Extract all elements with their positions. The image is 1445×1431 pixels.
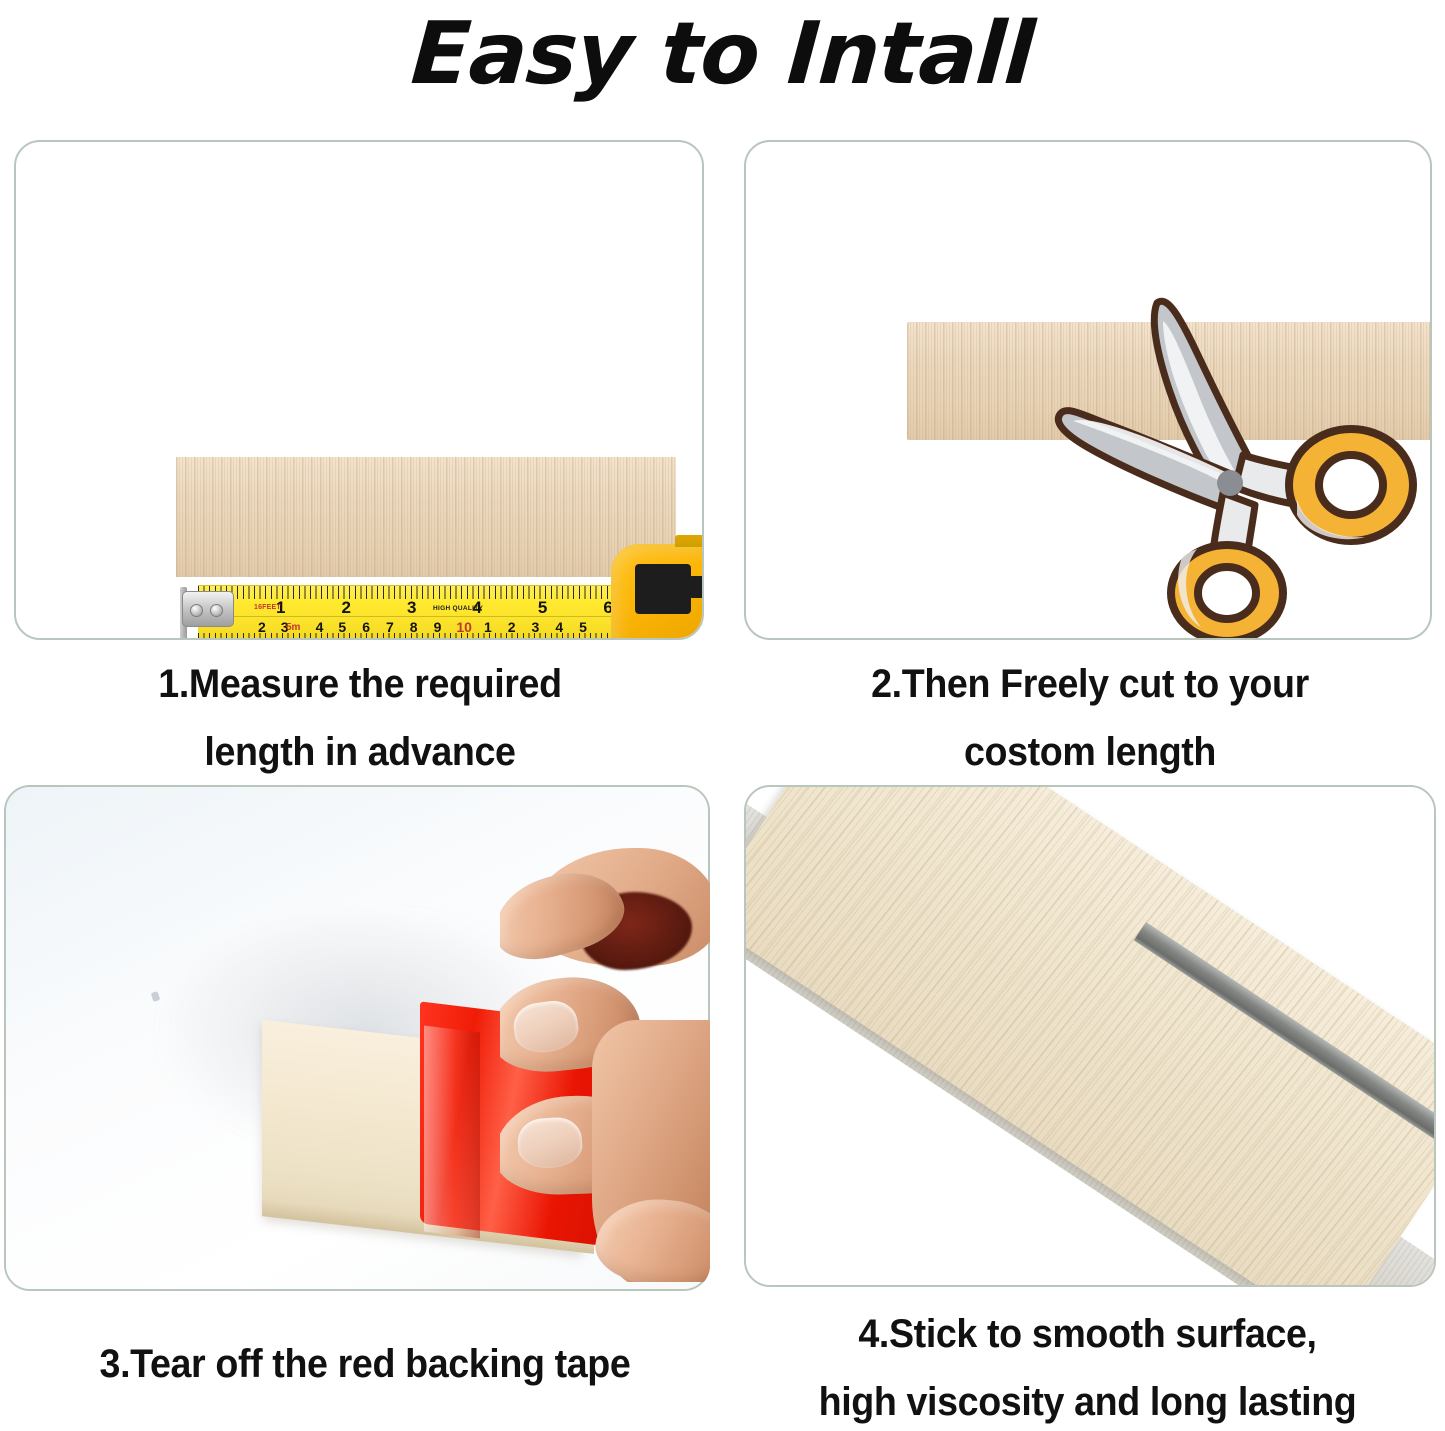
step-1-image-panel: 1 2 3 4 5 6 2 3 4 5 6 7 8 9 10 bbox=[14, 140, 704, 640]
caption-line: costom length bbox=[761, 718, 1419, 786]
drop-shadow bbox=[156, 907, 576, 1157]
tape-blade-body: 1 2 3 4 5 6 2 3 4 5 6 7 8 9 10 bbox=[198, 585, 646, 640]
step-2-caption: 2.Then Freely cut to your costom length bbox=[761, 650, 1419, 786]
tape-cm-numbers: 2 3 4 5 6 7 8 9 10 1 2 3 4 5 bbox=[198, 619, 646, 639]
step-3-caption: 3.Tear off the red backing tape bbox=[22, 1330, 708, 1398]
tape-metric-label: 5m bbox=[286, 622, 300, 633]
caption-line: 1.Measure the required bbox=[31, 650, 689, 718]
wood-trim-strip bbox=[176, 457, 676, 577]
tape-measure-case bbox=[611, 544, 704, 640]
tape-brand-label: 16FEET bbox=[254, 604, 281, 611]
caption-line: 4.Stick to smooth surface, bbox=[751, 1300, 1423, 1368]
tape-case-top-nub bbox=[675, 535, 704, 547]
caption-line: high viscosity and long lasting bbox=[751, 1368, 1423, 1431]
step-4-image-panel bbox=[744, 785, 1436, 1287]
scissors-icon bbox=[1047, 287, 1432, 640]
tape-measure-blade: 1 2 3 4 5 6 2 3 4 5 6 7 8 9 10 bbox=[176, 579, 646, 640]
step-4-caption: 4.Stick to smooth surface, high viscosit… bbox=[751, 1300, 1423, 1431]
caption-line: 2.Then Freely cut to your bbox=[761, 650, 1419, 718]
tape-hook-end bbox=[182, 591, 234, 627]
caption-line: 3.Tear off the red backing tape bbox=[22, 1330, 708, 1398]
tape-quality-label: HIGH QUALITY bbox=[433, 605, 483, 612]
step-2-image-panel bbox=[744, 140, 1432, 640]
page-title: Easy to Intall bbox=[0, 4, 1445, 104]
step-3-image-panel bbox=[4, 785, 710, 1291]
infographic-page: Easy to Intall 1 2 3 4 5 6 2 3 bbox=[0, 0, 1445, 1431]
caption-line: length in advance bbox=[31, 718, 689, 786]
step-1-caption: 1.Measure the required length in advance bbox=[31, 650, 689, 786]
tape-lock-lever bbox=[635, 564, 691, 614]
tape-case-sticker bbox=[669, 639, 704, 640]
